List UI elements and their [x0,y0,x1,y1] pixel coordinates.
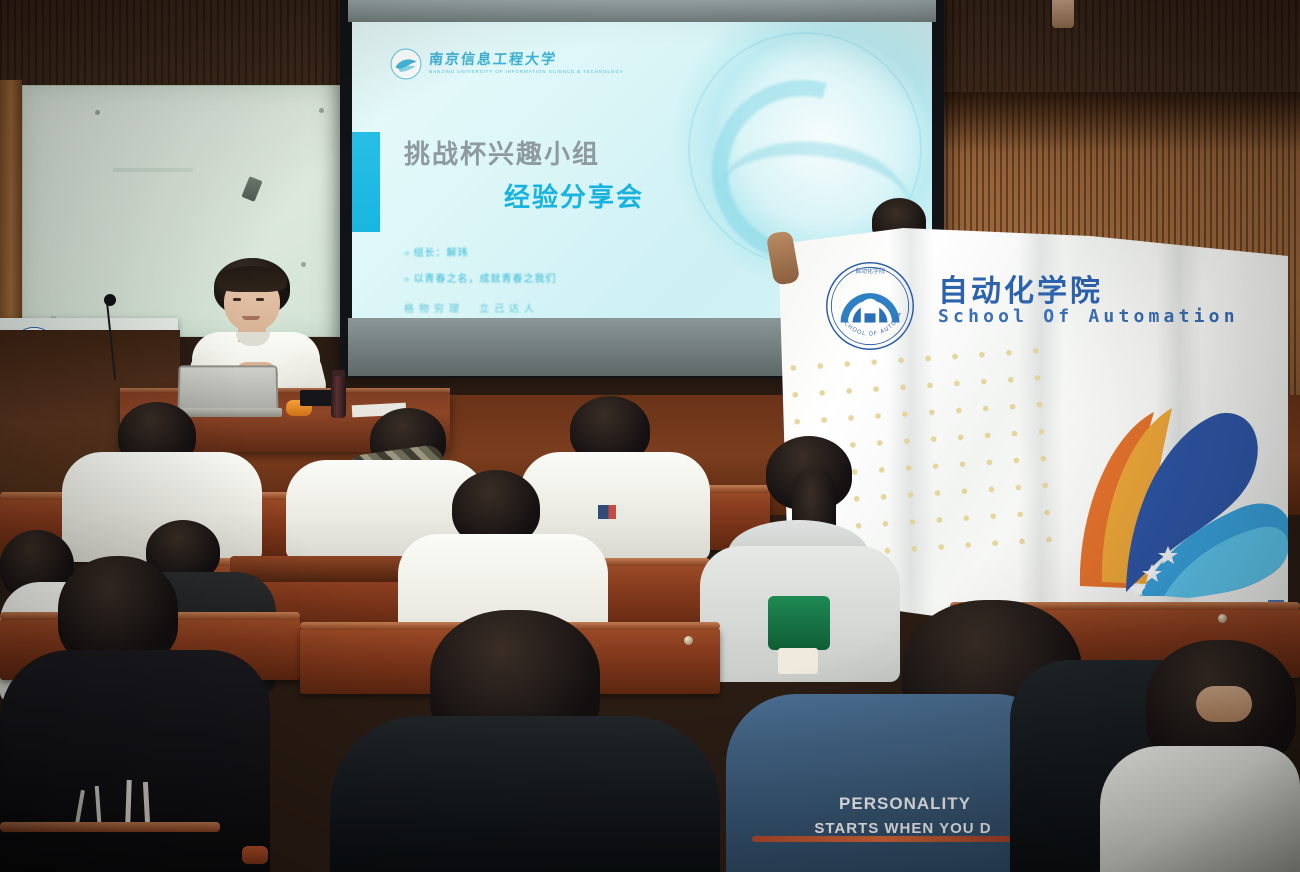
photo-scene: 南京信息工程大学 NANJING UNIVERSITY OF INFORMATI… [0,0,1300,872]
slide-title-line2: 经验分享会 [504,177,644,214]
foreground-person-center [330,716,720,872]
right-wall-shadow [940,92,1300,152]
slide-accent-bar [352,132,380,232]
university-name-cn: 南京信息工程大学 [428,53,624,67]
banner-name-en: School Of Automation [938,306,1239,327]
bullet-text: 以青春之名，成就青春之我们 [414,274,557,285]
whiteboard-mark [241,176,262,202]
whiteboard-screw [319,108,324,113]
speaker-fringe [217,266,287,292]
foreground-bench-top [0,822,220,832]
speaker-mouth [242,316,260,320]
bench-fitting [684,636,693,645]
university-emblem-icon [390,48,422,80]
foreground-person-denim-jacket [726,694,1056,872]
slide-bullet-item: »以青春之名，成就青春之我们 [404,270,557,285]
foreground-person-far-right [1100,746,1300,872]
speaker-eye-left [233,298,241,301]
bullet-arrow-icon: » [404,248,411,259]
university-name-en: NANJING UNIVERSITY OF INFORMATION SCIENC… [429,70,624,75]
bullet-arrow-icon: » [404,274,411,285]
wall-vent [1052,0,1074,28]
whiteboard-rail [113,168,193,172]
audience-green-bag [768,596,830,650]
challenge-cup-ribbon-icon [1068,396,1298,606]
jacket-text-line2: STARTS WHEN YOU D [768,818,1038,840]
left-wood-trim [0,80,22,330]
school-of-automation-seal-icon: 自动化学院 SCHOOL OF AUTOMATION [824,260,916,352]
slide-motto: 格物穷理 立己达人 [404,300,539,315]
foreground-hand [1196,686,1252,722]
slide-title-line1: 挑战杯兴趣小组 [404,134,600,171]
slide-bullet-list: »组长：解玮 »以青春之名，成就青春之我们 [404,244,557,285]
bullet-text: 组长：解玮 [414,248,469,259]
slide-bullet-item: »组长：解玮 [404,244,557,259]
svg-text:自动化学院: 自动化学院 [855,267,885,275]
microphone-head-icon [104,294,116,306]
jacket-text-line1: PERSONALITY [790,792,1020,817]
foreground-bench-fitting [242,846,268,864]
bench-fitting [1218,614,1227,623]
foreground-person-left [0,650,270,872]
whiteboard-screw [95,110,100,115]
slide-university-logo: 南京信息工程大学 NANJING UNIVERSITY OF INFORMATI… [390,48,624,80]
speaker-eye-right [256,298,264,301]
banner-name-cn: 自动化学院 [938,266,1103,310]
water-bottle [331,376,346,418]
audience-bag-label [778,648,818,674]
shirt-logo-tag [598,505,624,519]
screen-top-border [348,0,936,22]
